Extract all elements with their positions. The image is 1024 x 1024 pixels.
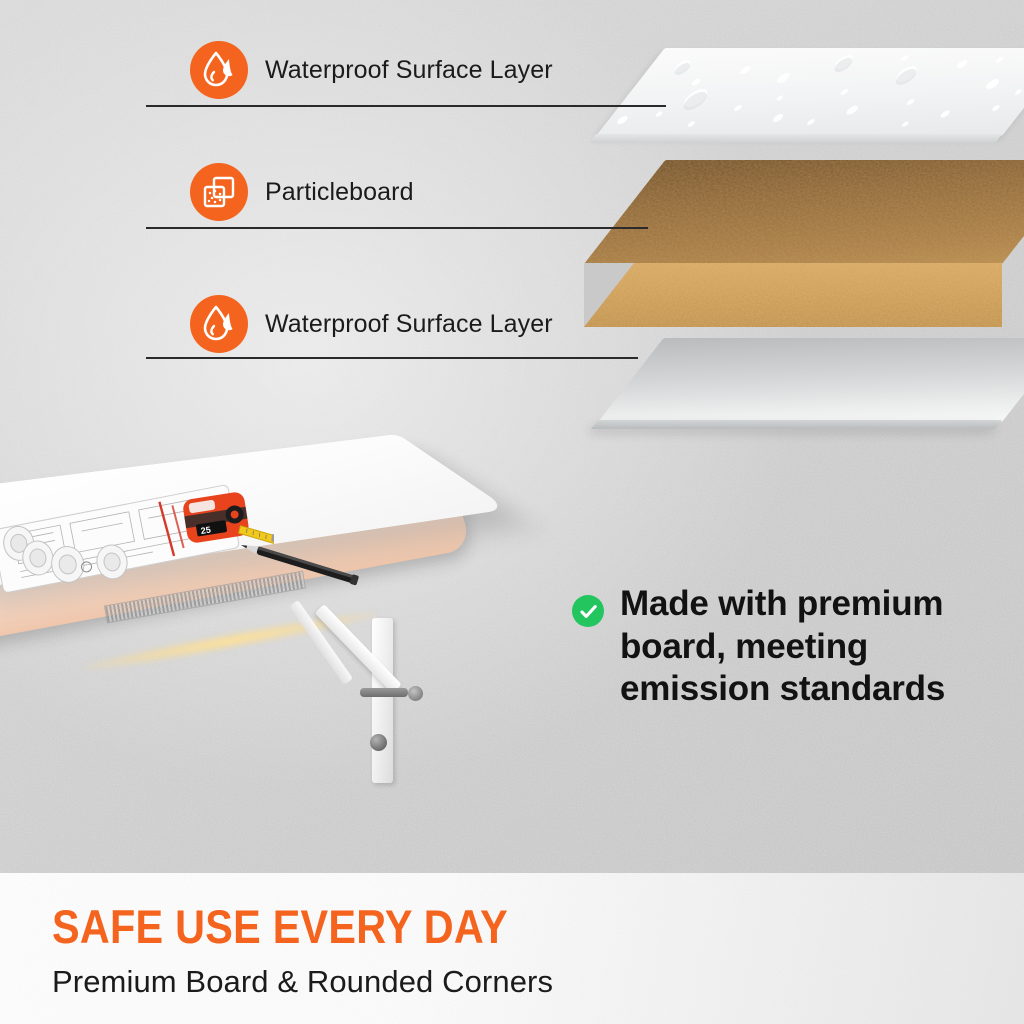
banner-headline: SAFE USE EVERY DAY	[52, 899, 508, 954]
particleboard-icon	[190, 163, 248, 221]
callout-label: Waterproof Surface Layer	[265, 56, 553, 85]
claim-line-2: board, meeting	[620, 627, 868, 666]
callout-top-waterproof: Waterproof Surface Layer	[190, 41, 553, 99]
folding-desk-photo: 25	[0, 470, 550, 790]
bottom-banner: SAFE USE EVERY DAY Premium Board & Round…	[0, 873, 1024, 1024]
claim-line-3: emission standards	[620, 669, 945, 708]
core-grain-texture	[584, 160, 1024, 264]
layer-bottom-waterproof-sheet	[598, 338, 1002, 422]
bottom-sheet-face	[598, 338, 1024, 422]
claim-line-1: Made with premium	[620, 584, 943, 623]
bottom-sheet-edge	[591, 420, 1002, 429]
layer-particleboard-core	[584, 160, 1002, 264]
svg-text:25: 25	[200, 525, 211, 536]
core-front-edge	[584, 263, 1002, 327]
callout-particleboard: Particleboard	[190, 163, 414, 221]
banner-subline: Premium Board & Rounded Corners	[52, 964, 553, 1000]
layer-top-waterproof-sheet	[596, 48, 1002, 136]
bracket-screw	[370, 734, 387, 751]
bracket-bolt	[408, 686, 423, 701]
top-sheet-edge	[589, 134, 1002, 143]
callout-label: Particleboard	[265, 178, 414, 207]
leader-line-middle	[146, 227, 648, 229]
infographic-canvas: Waterproof Surface Layer Particleboard	[0, 0, 1024, 1024]
callout-label: Waterproof Surface Layer	[265, 310, 553, 339]
leader-line-bottom	[146, 357, 638, 359]
bracket-post	[372, 618, 393, 783]
callout-bottom-waterproof: Waterproof Surface Layer	[190, 295, 553, 353]
green-check-icon	[572, 595, 604, 627]
bracket-pin	[360, 688, 408, 697]
layer-diagram	[560, 20, 1024, 450]
premium-claim: Made with premium board, meeting emissio…	[572, 583, 992, 711]
claim-text: Made with premium board, meeting emissio…	[620, 583, 945, 711]
water-droplets-overlay	[596, 48, 1024, 136]
leader-line-top	[146, 105, 666, 107]
wall-mount-bracket	[342, 610, 452, 790]
water-drop-icon	[190, 41, 248, 99]
water-drop-icon	[190, 295, 248, 353]
